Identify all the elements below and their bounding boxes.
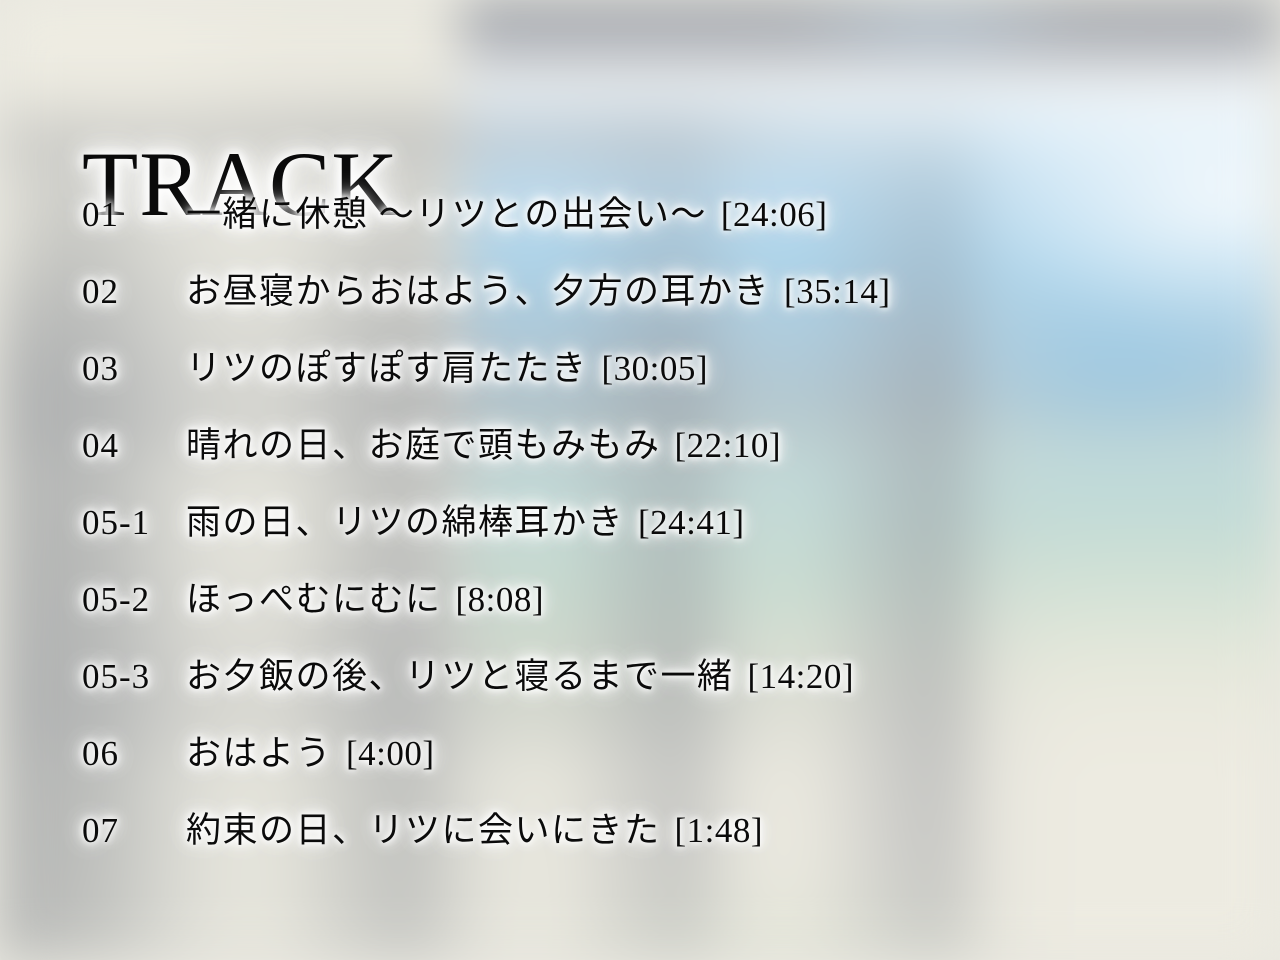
track-duration: [4:00]: [346, 735, 435, 774]
track-duration: [14:20]: [748, 658, 855, 697]
track-title: 約束の日、リツに会いにきた: [186, 812, 661, 851]
track-row: 03リツのぽすぽす肩たたき[30:05]: [82, 350, 1202, 427]
track-duration: [8:08]: [456, 581, 545, 620]
track-title: リツのぽすぽす肩たたき: [186, 350, 588, 389]
track-number: 01: [82, 196, 186, 235]
track-row: 05-3お夕飯の後、リツと寝るまで一緒[14:20]: [82, 658, 1202, 735]
track-list-page: TRACK 01一緒に休憩 〜リツとの出会い〜[24:06]02お昼寝からおはよ…: [0, 0, 1280, 960]
track-title: ほっぺむにむに: [186, 581, 442, 620]
track-title: 一緒に休憩 〜リツとの出会い〜: [186, 196, 707, 235]
track-number: 02: [82, 273, 186, 312]
track-row: 06おはよう[4:00]: [82, 735, 1202, 812]
track-title: おはよう: [186, 735, 332, 774]
track-row: 04晴れの日、お庭で頭もみもみ[22:10]: [82, 427, 1202, 504]
track-title: 晴れの日、お庭で頭もみもみ: [186, 427, 661, 466]
track-duration: [24:06]: [721, 196, 828, 235]
track-row: 07約束の日、リツに会いにきた[1:48]: [82, 812, 1202, 889]
track-row: 01一緒に休憩 〜リツとの出会い〜[24:06]: [82, 196, 1202, 273]
track-list: 01一緒に休憩 〜リツとの出会い〜[24:06]02お昼寝からおはよう、夕方の耳…: [82, 196, 1202, 889]
track-title: お昼寝からおはよう、夕方の耳かき: [186, 273, 770, 312]
track-number: 07: [82, 812, 186, 851]
track-title: お夕飯の後、リツと寝るまで一緒: [186, 658, 734, 697]
track-duration: [35:14]: [784, 273, 891, 312]
track-row: 05-2ほっぺむにむに[8:08]: [82, 581, 1202, 658]
track-duration: [24:41]: [638, 504, 745, 543]
track-duration: [22:10]: [675, 427, 782, 466]
track-number: 05-1: [82, 504, 186, 543]
track-title: 雨の日、リツの綿棒耳かき: [186, 504, 624, 543]
track-row: 02お昼寝からおはよう、夕方の耳かき[35:14]: [82, 273, 1202, 350]
track-number: 04: [82, 427, 186, 466]
track-number: 05-3: [82, 658, 186, 697]
track-number: 06: [82, 735, 186, 774]
track-duration: [1:48]: [675, 812, 764, 851]
content-overlay: TRACK 01一緒に休憩 〜リツとの出会い〜[24:06]02お昼寝からおはよ…: [0, 0, 1280, 960]
track-duration: [30:05]: [602, 350, 709, 389]
track-row: 05-1雨の日、リツの綿棒耳かき[24:41]: [82, 504, 1202, 581]
track-number: 05-2: [82, 581, 186, 620]
track-number: 03: [82, 350, 186, 389]
